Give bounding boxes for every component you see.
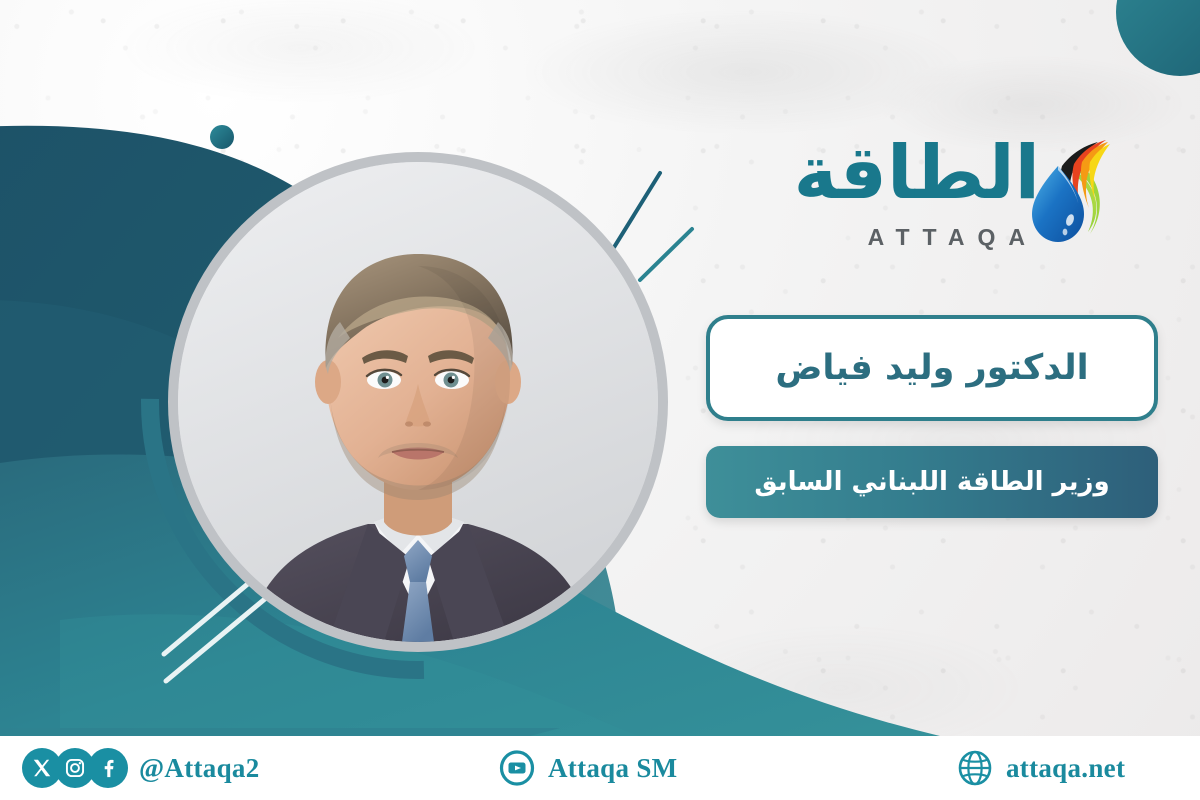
logo-latin-text: ATTAQA [868,224,1038,251]
social-handle-label: @Attaqa2 [139,753,260,784]
footer-bar: @Attaqa2 Attaqa SM [0,736,1200,800]
person-role-bar: وزير الطاقة اللبناني السابق [706,446,1158,518]
decorative-corner-circle [1116,0,1200,76]
footer-item-website[interactable]: attaqa.net [955,748,1125,788]
globe-icon[interactable] [955,748,995,788]
logo-arabic-text: الطاقة [794,136,1040,210]
water-drop-flame-icon [1032,140,1110,244]
person-name: الدكتور وليد فياض [775,348,1088,388]
footer-item-youtube[interactable]: Attaqa SM [497,748,677,788]
youtube-icon[interactable] [497,748,537,788]
brand-logo: الطاقة ATTAQA [766,140,1106,265]
decorative-dot [210,125,234,149]
person-role: وزير الطاقة اللبناني السابق [754,467,1109,497]
portrait-illustration [178,162,658,642]
portrait-photo [178,162,658,642]
social-icon-stack [22,748,128,788]
attaqa-profile-card: الطاقة ATTAQA [0,0,1200,800]
website-label: attaqa.net [1006,753,1125,784]
footer-separator-tab [0,728,560,736]
facebook-icon[interactable] [88,748,128,788]
footer-item-social[interactable]: @Attaqa2 [22,748,260,788]
portrait-ring [168,152,668,652]
person-name-plate: الدكتور وليد فياض [706,315,1158,421]
youtube-label: Attaqa SM [548,753,677,784]
